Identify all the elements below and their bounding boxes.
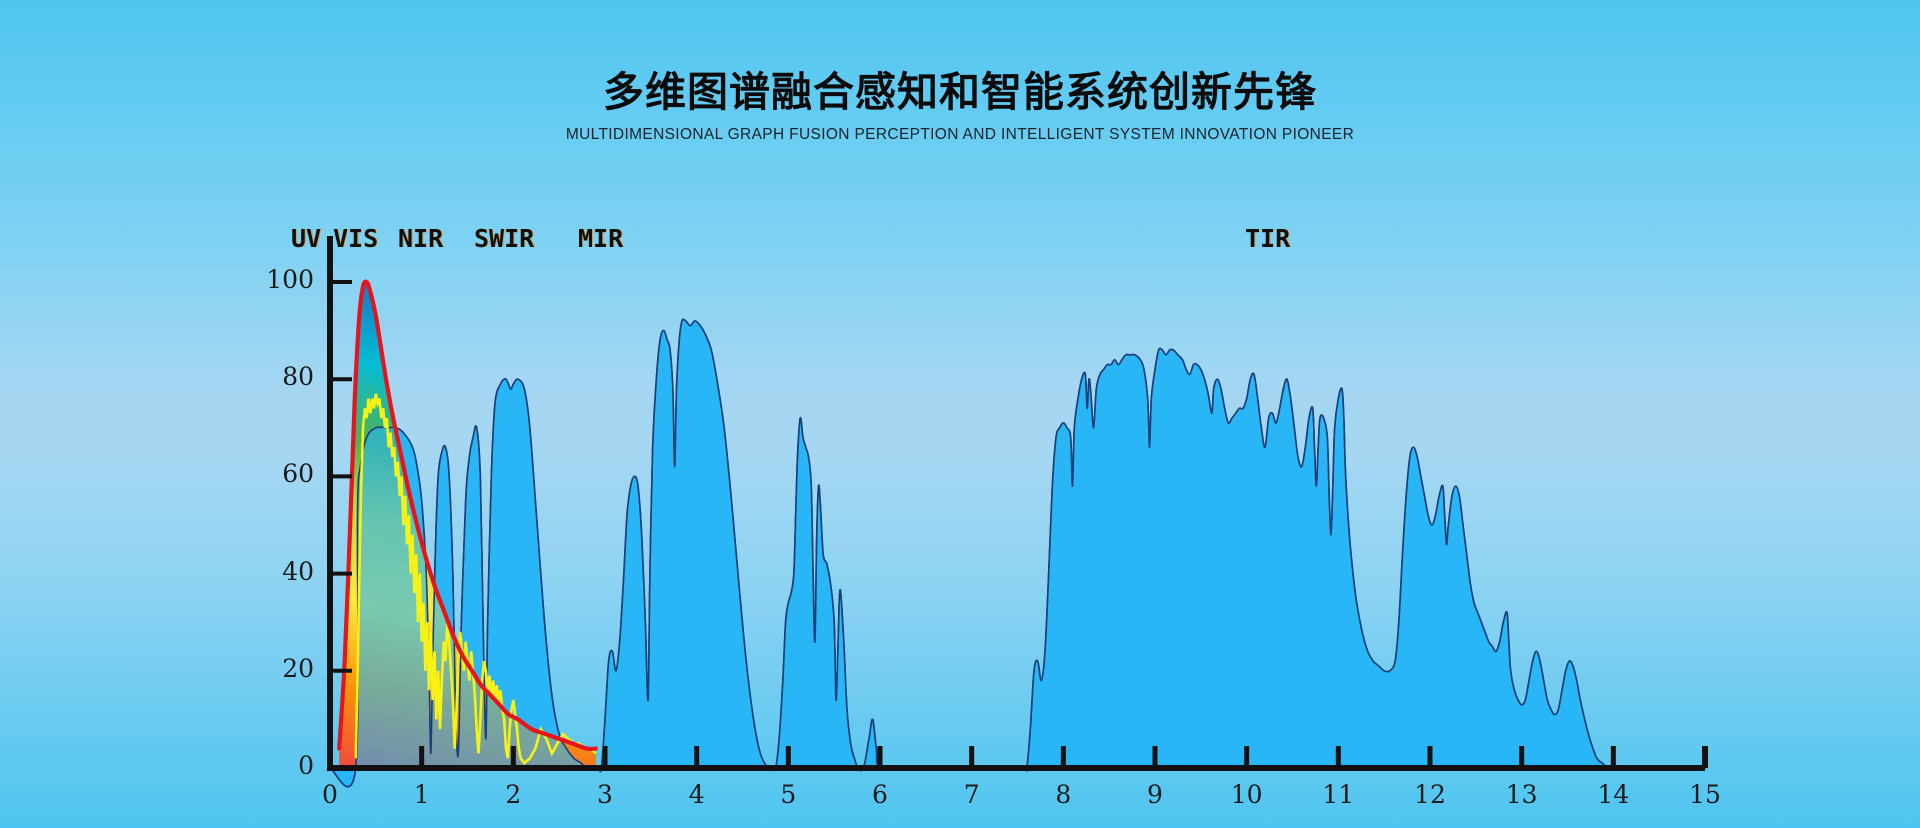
poster-root: 多维图谱融合感知和智能系统创新先锋 MULTIDIMENSIONAL GRAPH… [0,0,1920,828]
transmission-window-area-overlay [330,319,1705,786]
spectral-chart [0,0,1920,828]
